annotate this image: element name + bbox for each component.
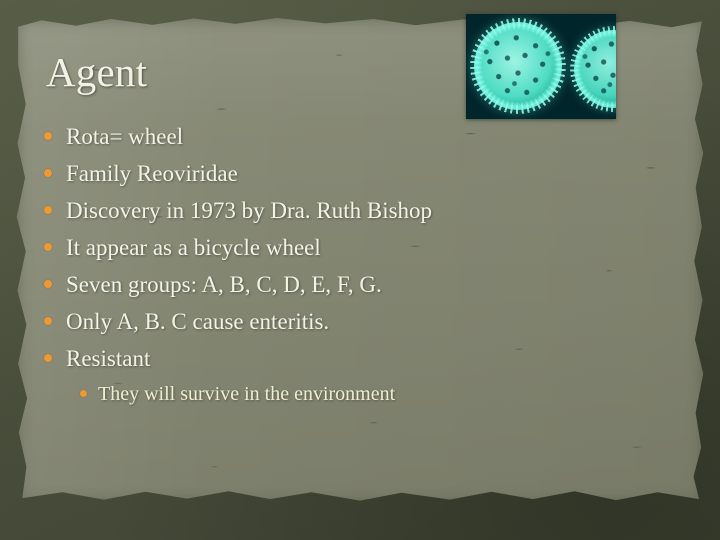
list-item: Seven groups: A, B, C, D, E, F, G.: [44, 272, 604, 309]
list-item-label: Seven groups: A, B, C, D, E, F, G.: [66, 272, 382, 297]
presentation-slide: Agent Rota= wheel Family Reoviridae Disc…: [0, 0, 720, 540]
bullet-dot-icon: [44, 132, 52, 140]
virus-particle-cropped: [574, 30, 616, 108]
sub-list-item-label: They will survive in the environment: [98, 383, 395, 405]
virus-particle-large: [474, 22, 562, 110]
capsid-spike-fringe: [470, 18, 566, 114]
bullet-list: Rota= wheel Family Reoviridae Discovery …: [44, 124, 604, 417]
rotavirus-micrograph-image: [466, 14, 616, 119]
bullet-dot-icon: [44, 206, 52, 214]
list-item-label: Resistant: [66, 346, 150, 371]
bullet-dot-icon: [44, 169, 52, 177]
list-item: Only A, B. C cause enteritis.: [44, 309, 604, 346]
list-item-label: Family Reoviridae: [66, 161, 238, 186]
list-item: Resistant: [44, 346, 604, 383]
sub-bullet-dot-icon: [80, 390, 87, 397]
list-item-label: Discovery in 1973 by Dra. Ruth Bishop: [66, 198, 432, 223]
list-item: Discovery in 1973 by Dra. Ruth Bishop: [44, 198, 604, 235]
list-item: Family Reoviridae: [44, 161, 604, 198]
list-item: It appear as a bicycle wheel: [44, 235, 604, 272]
list-item-label: It appear as a bicycle wheel: [66, 235, 321, 260]
page-title: Agent: [46, 52, 147, 93]
bullet-dot-icon: [44, 280, 52, 288]
bullet-dot-icon: [44, 317, 52, 325]
list-item-label: Rota= wheel: [66, 124, 183, 149]
bullet-dot-icon: [44, 243, 52, 251]
list-item: Rota= wheel: [44, 124, 604, 161]
bullet-dot-icon: [44, 354, 52, 362]
sub-list-item: They will survive in the environment: [44, 383, 604, 417]
capsid-spike-fringe: [570, 26, 616, 112]
list-item-label: Only A, B. C cause enteritis.: [66, 309, 329, 334]
